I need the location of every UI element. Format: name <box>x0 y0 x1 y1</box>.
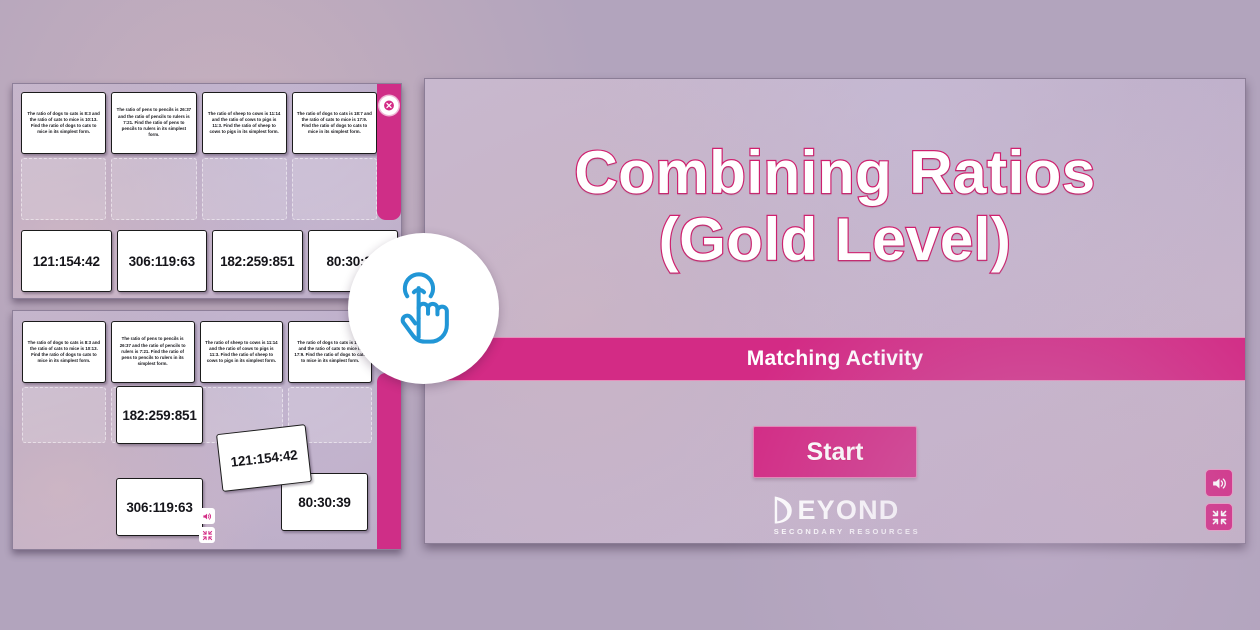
compress-glyph <box>202 530 213 541</box>
question-card[interactable]: The ratio of dogs to cats is 18:7 and th… <box>292 92 377 154</box>
volume-icon[interactable] <box>1205 469 1233 497</box>
speaker-glyph <box>1211 475 1228 492</box>
exit-fullscreen-icon[interactable] <box>199 527 215 543</box>
question-row-top: The ratio of dogs to cats is 8:3 and the… <box>21 92 377 154</box>
close-icon[interactable] <box>380 96 399 115</box>
question-card[interactable]: The ratio of dogs to cats is 8:3 and the… <box>22 321 106 383</box>
answer-tile[interactable]: 121:154:42 <box>21 230 112 292</box>
question-row-bottom: The ratio of dogs to cats is 8:3 and the… <box>22 321 372 383</box>
speaker-glyph <box>202 511 213 522</box>
subtitle-banner: Matching Activity <box>425 337 1245 381</box>
answer-tile-dragged[interactable]: 121:154:42 <box>216 424 312 492</box>
brand-tagline: SECONDARY RESOURCES <box>774 527 921 536</box>
answer-tile[interactable]: 182:259:851 <box>116 386 203 444</box>
activity-panel-top: The ratio of dogs to cats is 8:3 and the… <box>12 83 402 299</box>
question-card[interactable]: The ratio of dogs to cats is 8:3 and the… <box>21 92 106 154</box>
answer-tile[interactable]: 306:119:63 <box>116 478 203 536</box>
brand-name: EYOND <box>797 497 899 524</box>
question-card[interactable]: The ratio of pens to pencils is 26:37 an… <box>111 92 196 154</box>
drop-zone[interactable] <box>22 387 106 443</box>
start-button-label: Start <box>807 438 864 467</box>
drop-zone[interactable] <box>202 158 287 220</box>
question-card[interactable]: The ratio of pens to pencils is 26:37 an… <box>111 321 195 383</box>
answer-row-top: 121:154:42 306:119:63 182:259:851 80:30:… <box>21 230 398 292</box>
panel-controls <box>199 508 215 543</box>
brand-row: EYOND <box>770 495 899 525</box>
question-card[interactable]: The ratio of sheep to cows is 11:14 and … <box>200 321 284 383</box>
screen: The ratio of dogs to cats is 8:3 and the… <box>0 0 1260 630</box>
volume-icon[interactable] <box>199 508 215 524</box>
stage-controls <box>1205 469 1233 531</box>
answer-tile[interactable]: 306:119:63 <box>117 230 208 292</box>
exit-fullscreen-icon[interactable] <box>1205 503 1233 531</box>
title-line-2: (Gold Level) <box>425 206 1245 273</box>
brand-logo: EYOND SECONDARY RESOURCES <box>750 495 921 536</box>
drop-zone-row-top <box>21 158 377 220</box>
compress-glyph <box>1211 509 1228 526</box>
panel-side-rail <box>377 373 401 550</box>
panel-side-rail <box>377 84 401 220</box>
tap-hand-icon <box>381 266 467 352</box>
answer-tile[interactable]: 182:259:851 <box>212 230 303 292</box>
drop-zone[interactable] <box>111 158 196 220</box>
beyond-b-icon <box>770 495 796 525</box>
activity-stage: Combining Ratios (Gold Level) Matching A… <box>424 78 1246 544</box>
activity-panel-bottom: The ratio of dogs to cats is 8:3 and the… <box>12 310 402 550</box>
title-line-1: Combining Ratios <box>425 139 1245 206</box>
close-glyph <box>384 100 395 111</box>
start-button[interactable]: Start <box>753 426 917 478</box>
page-title: Combining Ratios (Gold Level) <box>425 139 1245 273</box>
question-card[interactable]: The ratio of sheep to cows is 11:14 and … <box>202 92 287 154</box>
subtitle-label: Matching Activity <box>747 347 923 371</box>
tap-cursor-indicator <box>348 233 499 384</box>
drop-zone[interactable] <box>21 158 106 220</box>
drop-zone[interactable] <box>292 158 377 220</box>
